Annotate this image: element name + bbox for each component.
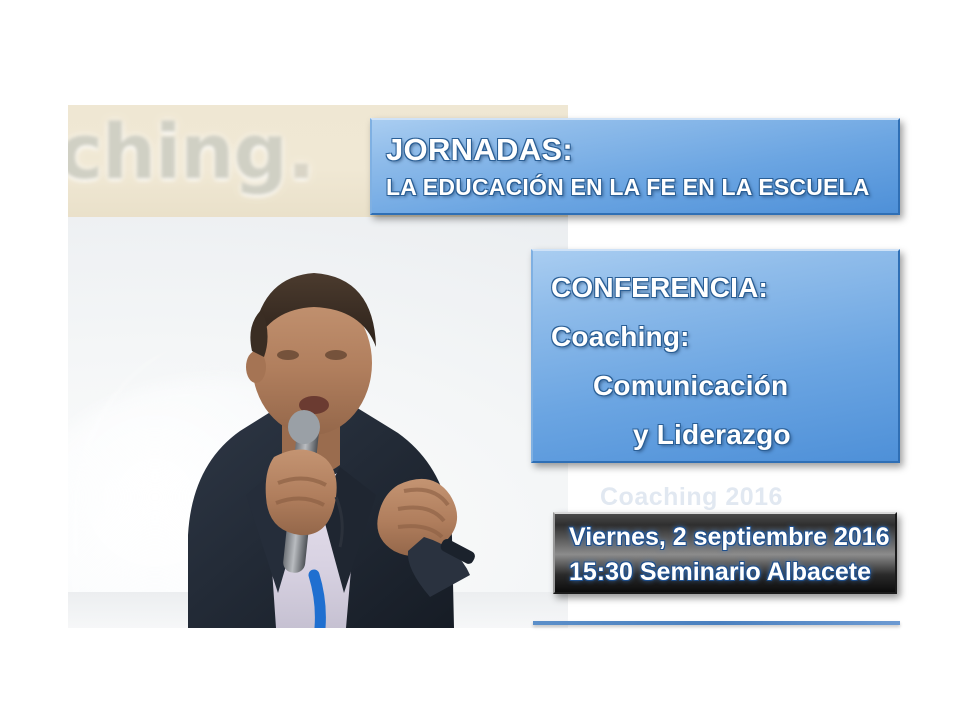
background-ghost-text: Coaching 2016 bbox=[600, 483, 783, 512]
conferencia-topic: Coaching: bbox=[551, 312, 882, 361]
banner-conferencia: CONFERENCIA: Coaching: Comunicación y Li… bbox=[531, 249, 900, 463]
banner-jornadas: JORNADAS: LA EDUCACIÓN EN LA FE EN LA ES… bbox=[370, 118, 900, 215]
conferencia-label: CONFERENCIA: bbox=[551, 263, 882, 312]
jornadas-subtitle: LA EDUCACIÓN EN LA FE EN LA ESCUELA bbox=[386, 170, 898, 204]
jornadas-title: JORNADAS: bbox=[386, 130, 898, 170]
conferencia-topic-line2: Comunicación bbox=[551, 361, 882, 410]
presentation-slide: ching. bbox=[0, 0, 960, 720]
conferencia-topic-line3: y Liderazgo bbox=[551, 410, 882, 459]
accent-rule bbox=[533, 621, 900, 625]
event-date: Viernes, 2 septiembre 2016 bbox=[569, 520, 895, 555]
event-time-venue: 15:30 Seminario Albacete bbox=[569, 555, 895, 590]
banner-date-venue: Viernes, 2 septiembre 2016 15:30 Seminar… bbox=[553, 512, 897, 594]
